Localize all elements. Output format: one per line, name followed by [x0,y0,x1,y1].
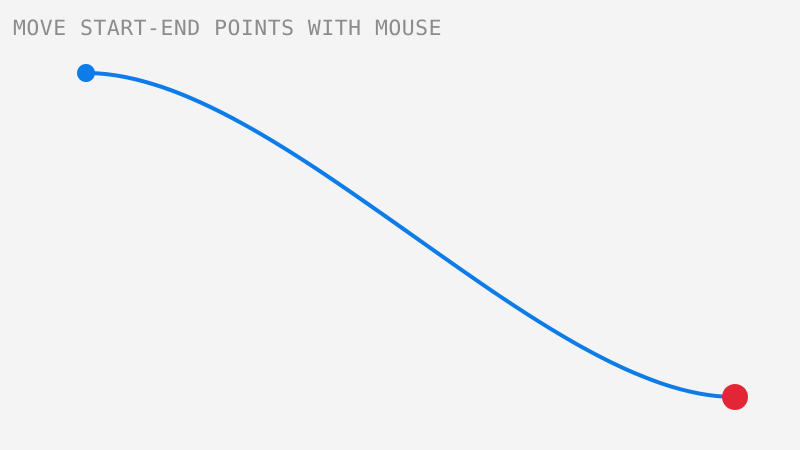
start-point-hit-area[interactable] [68,55,104,91]
app-root: MOVE START-END POINTS WITH MOUSE [0,0,800,450]
end-point-hit-area[interactable] [713,375,757,419]
bezier-canvas[interactable] [0,0,800,450]
page-title: MOVE START-END POINTS WITH MOUSE [13,16,442,40]
